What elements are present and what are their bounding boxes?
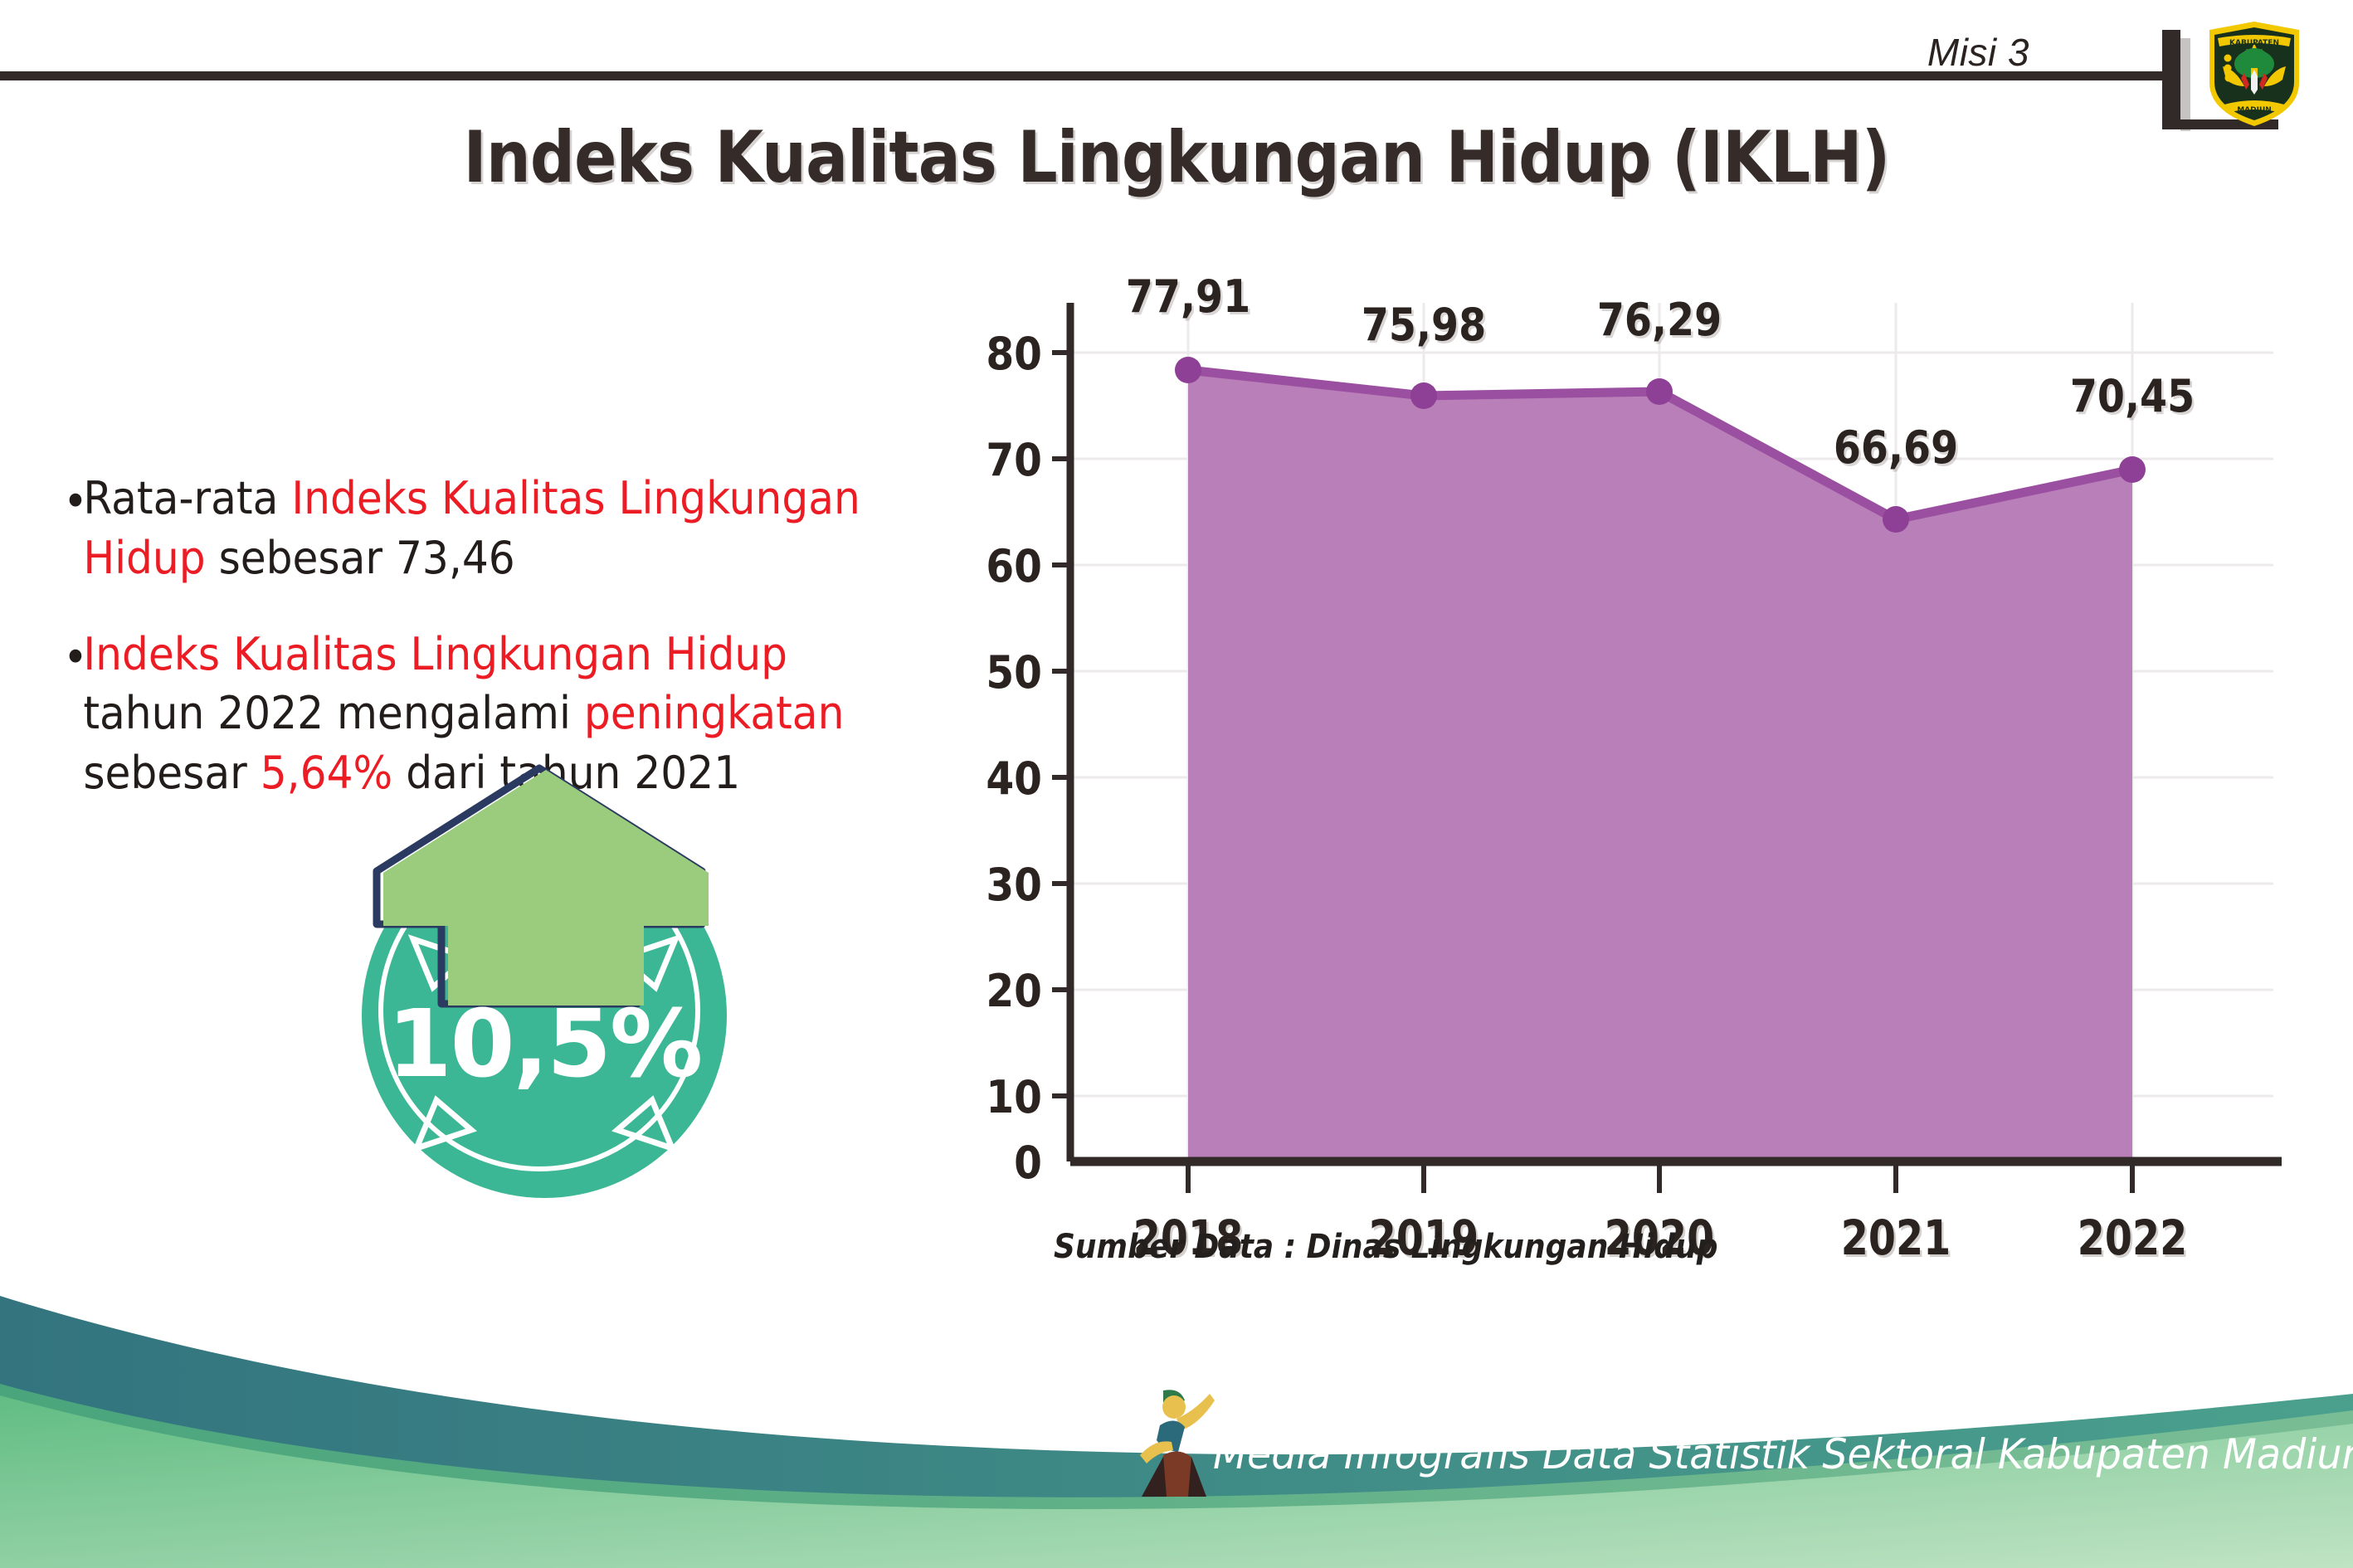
running-person-icon [1138,1387,1218,1500]
source-note: Sumber Data : Dinas Lingkungan Hidup [1054,1228,1718,1266]
y-tick-label: 0 [960,1137,1042,1189]
up-arrow-icon [362,762,727,1010]
footer-caption: Media Infografis Data Statistik Sektoral… [1213,1430,2353,1478]
y-tick-label: 70 [960,434,1042,486]
header-rule [0,71,2169,80]
iklh-area-chart: 80 70 60 50 40 30 20 10 0 77,91 75,98 76… [954,282,2315,1311]
data-label: 76,29 [1565,294,1755,346]
header-bracket [2162,30,2180,129]
bullet-plain: sebesar 73,46 [206,532,515,584]
bullet-highlight: Indeks Kualitas Lingkungan Hidup [83,628,787,680]
chart-area-fill [1188,370,2132,1161]
y-tick-label: 50 [960,646,1042,699]
y-tick-label: 30 [960,859,1042,911]
slide-root: Misi 3 KABUPATEN MADIUN Indeks Kualitas … [0,0,2353,1568]
increase-badge: 10,5% [332,762,763,1201]
list-item: • Rata-rata Indeks Kualitas Lingkungan H… [65,469,921,588]
bullet-plain: tahun 2022 mengalami [83,687,584,739]
crest-top-text: KABUPATEN [2229,39,2279,47]
page-title: Indeks Kualitas Lingkungan Hidup (IKLH) [141,116,2212,199]
y-tick-label: 80 [960,328,1042,380]
y-tick-label: 40 [960,752,1042,805]
bullet-dot: • [63,628,88,688]
bullet-dot: • [63,472,88,532]
y-tick-label: 20 [960,965,1042,1017]
y-tick-label: 60 [960,540,1042,592]
data-label: 70,45 [2038,370,2228,422]
x-tick-label: 2022 [2051,1210,2214,1266]
bullet-plain: Rata-rata [83,472,291,524]
data-label: 66,69 [1801,421,1991,474]
bullet-text-1: Rata-rata Indeks Kualitas Lingkungan Hid… [65,469,921,588]
kabupaten-madiun-crest-icon: KABUPATEN MADIUN [2203,18,2306,129]
bullet-highlight: peningkatan [584,687,845,739]
data-label: 77,91 [1094,270,1284,323]
data-label: 75,98 [1329,299,1519,351]
crest-bottom-text: MADIUN [2237,106,2272,114]
misi-label: Misi 3 [1927,30,2029,75]
bullet-plain: sebesar [83,747,260,799]
y-tick-label: 10 [960,1071,1042,1123]
badge-percent-value: 10,5% [362,991,727,1098]
chart-canvas [954,282,2315,1311]
x-tick-label: 2021 [1815,1210,1978,1266]
